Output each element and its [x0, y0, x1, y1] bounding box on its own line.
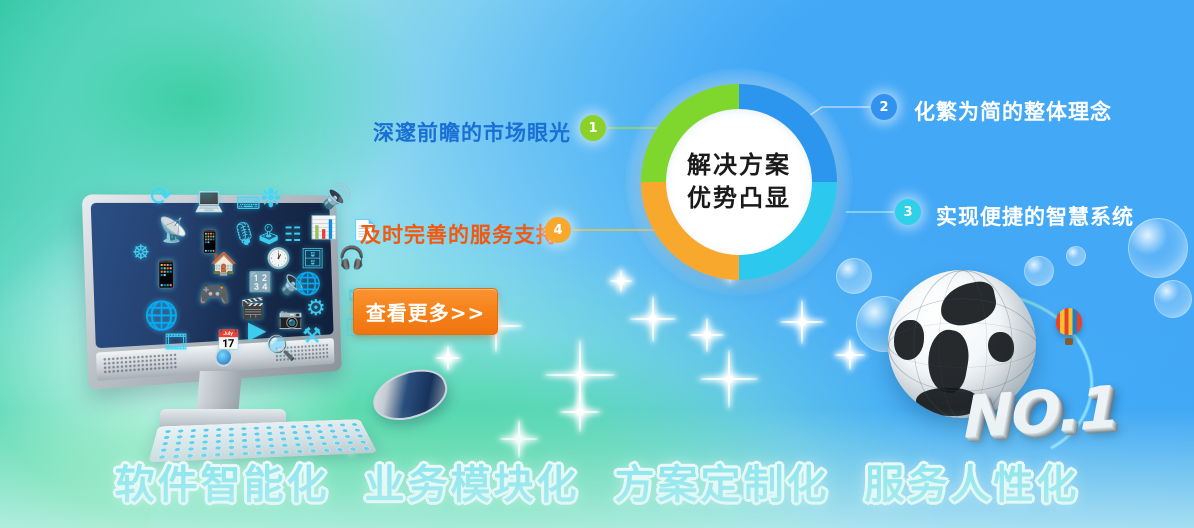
feature-badge-1[interactable]: 1 [580, 115, 606, 141]
feature-badge-2[interactable]: 2 [871, 94, 897, 120]
solution-donut-chart: 解决方案 优势凸显 [641, 84, 837, 280]
feature-label-2: 化繁为简的整体理念 [914, 96, 1112, 126]
promo-banner: ⟳ 💻 ⌨ ❉ 🔊 📊 📡 ☸ 📱 🎙 🕹 ☷ 🗄 🎧 📱 🏠 🕐 🔢 🔈 🎮 … [0, 0, 1194, 528]
donut-title-line1: 解决方案 [687, 149, 791, 182]
feature-badge-3[interactable]: 3 [895, 199, 921, 225]
donut-title-line2: 优势凸显 [687, 182, 791, 215]
donut-center: 解决方案 优势凸显 [666, 109, 812, 255]
feature-badge-4[interactable]: 4 [545, 217, 571, 243]
background-bottom-fade [0, 408, 1194, 528]
donut-ring: 解决方案 优势凸显 [641, 84, 837, 280]
feature-label-3: 实现便捷的智慧系统 [936, 201, 1134, 231]
feature-label-4: 及时完善的服务支持 [360, 219, 558, 249]
feature-label-1: 深邃前瞻的市场眼光 [373, 117, 571, 147]
view-more-button[interactable]: 查看更多>> [353, 288, 498, 335]
